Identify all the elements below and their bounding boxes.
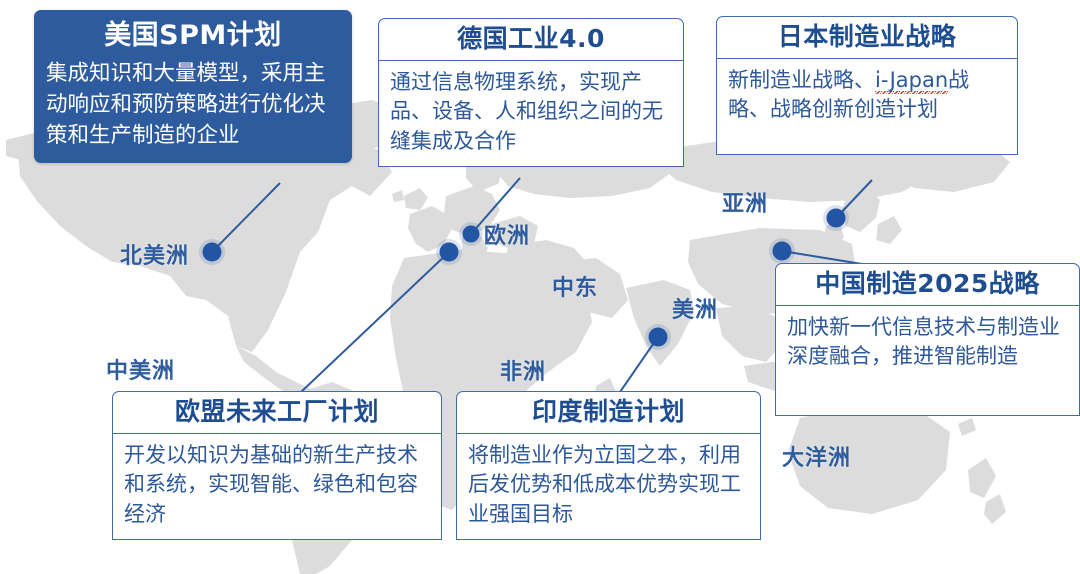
connector-eu <box>301 252 449 392</box>
card-india-make-in-india-body: 将制造业作为立国之本，利用后发优势和低成本优势实现工业强国目标 <box>456 434 761 540</box>
marker-europe-eu <box>440 243 459 262</box>
card-eu-factories-of-future-body: 开发以知识为基础的新生产技术和系统，实现智能、绿色和包容经济 <box>112 434 442 540</box>
card-usa-spm-title: 美国SPM计划 <box>42 16 344 58</box>
card-japan-body-part1: 新制造业战略、 <box>728 68 875 92</box>
card-usa-spm-body: 集成知识和大量模型，采用主动响应和预防策略进行优化决策和生产制造的企业 <box>42 58 344 152</box>
marker-dots <box>199 205 849 350</box>
card-china-2025[interactable]: 中国制造2025战略 加快新一代信息技术与制造业深度融合，推进智能制造 <box>775 263 1080 416</box>
card-china-2025-body: 加快新一代信息技术与制造业深度融合，推进智能制造 <box>775 306 1080 416</box>
marker-germany <box>463 226 480 243</box>
card-germany-industry40-title: 德国工业4.0 <box>378 18 684 61</box>
card-japan-strategy-body: 新制造业战略、i-Japan战略、战略创新创造计划 <box>716 59 1018 155</box>
card-japan-strategy-title: 日本制造业战略 <box>716 16 1018 59</box>
card-japan-body-highlight: i-Japan <box>875 68 948 94</box>
card-eu-factories-of-future-title: 欧盟未来工厂计划 <box>112 391 442 434</box>
card-usa-spm[interactable]: 美国SPM计划 集成知识和大量模型，采用主动响应和预防策略进行优化决策和生产制造… <box>34 10 352 163</box>
infographic-root: 北美洲 中美洲 欧洲 中东 非洲 美洲 亚洲 大洋洲 <box>0 0 1080 574</box>
card-eu-factories-of-future[interactable]: 欧盟未来工厂计划 开发以知识为基础的新生产技术和系统，实现智能、绿色和包容经济 <box>112 391 442 540</box>
card-germany-industry40-body: 通过信息物理系统，实现产品、设备、人和组织之间的无缝集成及合作 <box>378 61 684 167</box>
connector-usa <box>212 183 280 252</box>
card-germany-industry40[interactable]: 德国工业4.0 通过信息物理系统，实现产品、设备、人和组织之间的无缝集成及合作 <box>378 18 684 167</box>
card-japan-strategy[interactable]: 日本制造业战略 新制造业战略、i-Japan战略、战略创新创造计划 <box>716 16 1018 155</box>
marker-north-america <box>203 243 222 262</box>
marker-india <box>649 328 668 347</box>
marker-japan <box>827 209 846 228</box>
card-india-make-in-india[interactable]: 印度制造计划 将制造业作为立国之本，利用后发优势和低成本优势实现工业强国目标 <box>456 391 761 540</box>
card-china-2025-title: 中国制造2025战略 <box>775 263 1080 306</box>
card-india-make-in-india-title: 印度制造计划 <box>456 391 761 434</box>
marker-china <box>773 242 792 261</box>
